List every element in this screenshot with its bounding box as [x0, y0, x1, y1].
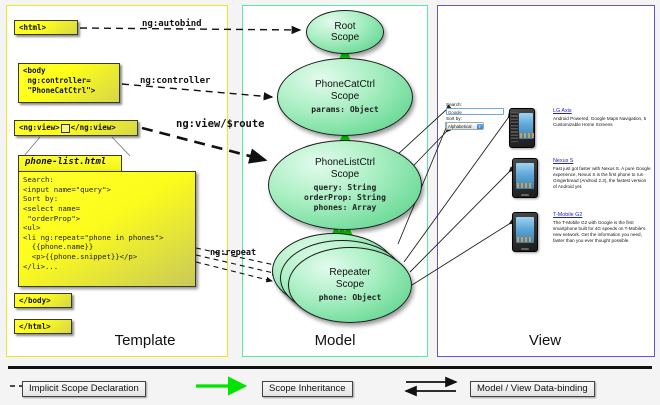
file-note-phone-list: phone-list.html Search: <input name="que…	[18, 155, 196, 287]
column-label-model: Model	[285, 332, 385, 349]
legend-item-data-binding: Model / View Data-binding	[470, 378, 595, 394]
phone-screen-icon	[516, 163, 534, 189]
ngview-placeholder-icon	[61, 124, 70, 133]
scope-phonecatctrl-title: PhoneCatCtrl Scope	[315, 79, 375, 102]
scope-phonecatctrl-props: params: Object	[311, 105, 378, 115]
tag-body-open: <body ng:controller= "PhoneCatCtrl">	[18, 63, 120, 103]
scope-phonelistctrl: PhoneListCtrl Scope query: String orderP…	[268, 140, 422, 230]
legend-label: Scope Inheritance	[262, 381, 353, 397]
phone-snippet: The T-Mobile G2 with Google is the first…	[553, 220, 651, 244]
phone-list-item: T-Mobile G2 The T-Mobile G2 with Google …	[553, 212, 651, 244]
legend-label: Implicit Scope Declaration	[22, 381, 146, 397]
scope-root-title: Root Scope	[331, 21, 359, 44]
sort-select-value: Alphabetical	[448, 124, 471, 129]
connector-label-ngrepeat: ng:repeat	[210, 248, 256, 258]
scope-repeater: Repeater Scope phone: Object	[288, 247, 412, 323]
phone-name-link[interactable]: Nexus S	[553, 158, 651, 164]
phone-home-button-icon	[521, 248, 529, 250]
chevron-updown-icon: ⇳	[477, 124, 483, 130]
scope-repeater-props: phone: Object	[319, 293, 382, 303]
phone-keyboard-icon	[511, 112, 518, 142]
legend-item-scope-inheritance: Scope Inheritance	[262, 378, 353, 394]
connector-label-controller: ng:controller	[140, 76, 210, 86]
tag-html-open: <html>	[14, 20, 78, 35]
sort-label: Sort by:	[446, 116, 510, 122]
tag-html-close: </html>	[14, 319, 72, 334]
ngview-prefix: <ng:view>	[19, 123, 60, 132]
tag-body-close: </body>	[14, 293, 72, 308]
search-input[interactable]: Google	[446, 108, 504, 115]
ngview-suffix: </ng:view>	[71, 123, 116, 132]
tag-ngview: <ng:view></ng:view>	[14, 120, 138, 136]
search-widget: Search: Google Sort by: Alphabetical ⇳	[446, 102, 510, 130]
file-note-title: phone-list.html	[25, 157, 106, 167]
legend-divider	[8, 366, 652, 369]
search-label: Search:	[446, 102, 510, 108]
scope-phonelistctrl-title: PhoneListCtrl Scope	[315, 157, 375, 180]
column-label-template: Template	[90, 332, 200, 349]
sort-select[interactable]: Alphabetical ⇳	[446, 122, 484, 130]
phone-snippet: Fast just got faster with Nexus S. A pur…	[553, 166, 651, 190]
scope-root: Root Scope	[306, 10, 384, 54]
legend-label: Model / View Data-binding	[470, 381, 595, 397]
scope-phonelistctrl-props: query: String orderProp: String phones: …	[304, 183, 386, 213]
scope-repeater-title: Repeater Scope	[329, 267, 370, 290]
scope-phonecatctrl: PhoneCatCtrl Scope params: Object	[277, 58, 413, 136]
file-note-code: Search: <input name="query"> Sort by: <s…	[18, 171, 196, 287]
phone-list-item: LG Axis Android Powered, Google Maps Nav…	[553, 108, 651, 128]
connector-label-autobind: ng:autobind	[142, 19, 202, 29]
diagram-canvas: <html> <body ng:controller= "PhoneCatCtr…	[0, 0, 660, 405]
phone-thumbnail	[509, 108, 535, 148]
file-note-tab: phone-list.html	[18, 155, 122, 172]
phone-snippet: Android Powered, Google Maps Navigation,…	[553, 116, 651, 128]
phone-thumbnail	[512, 158, 538, 198]
column-label-view: View	[495, 332, 595, 349]
phone-name-link[interactable]: LG Axis	[553, 108, 651, 114]
phone-thumbnail	[512, 212, 538, 252]
phone-screen-icon	[516, 217, 534, 243]
connector-label-ngview-route: ng:view/$route	[176, 118, 265, 130]
phone-list-item: Nexus S Fast just got faster with Nexus …	[553, 158, 651, 190]
phone-name-link[interactable]: T-Mobile G2	[553, 212, 651, 218]
phone-home-button-icon	[521, 194, 529, 196]
legend-item-implicit-scope-declaration: Implicit Scope Declaration	[22, 378, 146, 394]
phone-screen-icon	[519, 113, 533, 139]
